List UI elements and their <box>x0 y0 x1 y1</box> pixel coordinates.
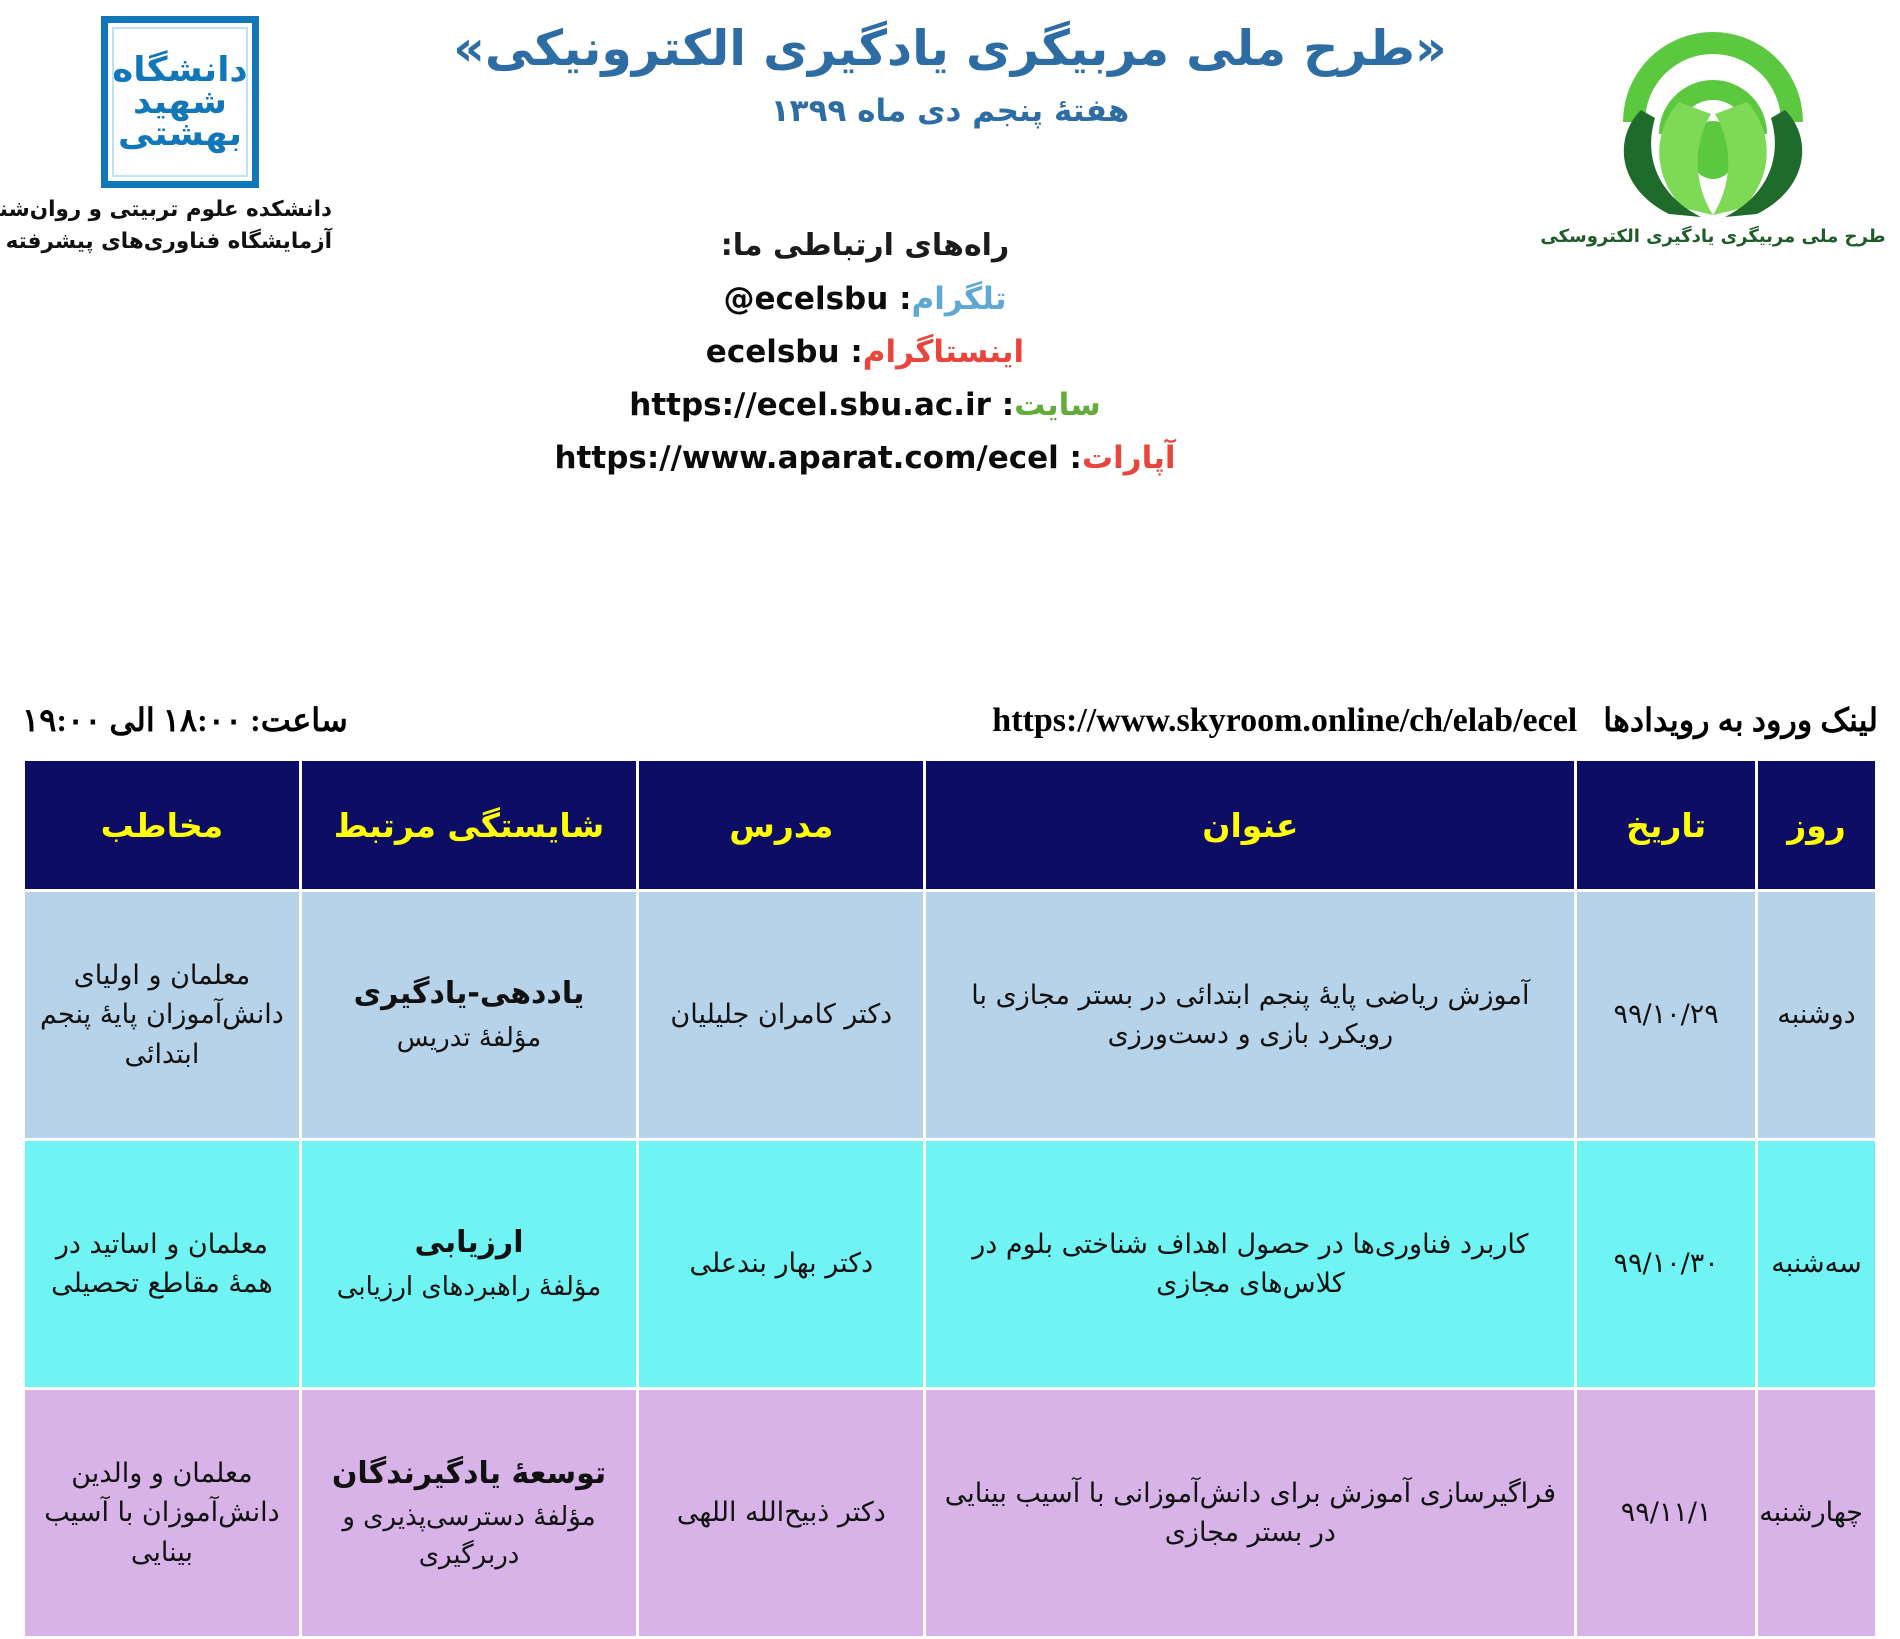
competency-sub: مؤلفهٔ دسترسی‌پذیری و دربرگیری <box>314 1499 624 1574</box>
competency-main: یاددهی-یادگیری <box>314 972 624 1016</box>
cell-title: فراگیرسازی آموزش برای دانش‌آموزانی با آس… <box>926 1390 1574 1636</box>
contact-block: راه‌های ارتباطی ما: تلگرام: @ecelsbu این… <box>0 228 1900 493</box>
cell-lecturer: دکتر کامران جلیلیان <box>639 892 923 1138</box>
column-header-competency[interactable]: شایستگی مرتبط <box>302 761 636 889</box>
competency-sub: مؤلفهٔ راهبردهای ارزیابی <box>314 1269 624 1307</box>
cell-title: کاربرد فناوری‌ها در حصول اهداف شناختی بل… <box>926 1141 1574 1387</box>
sbu-faculty-line1: دانشکده علوم تربیتی و روان‌شناسی <box>0 194 360 226</box>
event-link-label: لینک ورود به رویدادها <box>1603 701 1878 739</box>
contact-value-telegram[interactable]: @ecelsbu <box>724 281 889 317</box>
sbu-university-logo-icon: دانشگاه شهید بهشتی <box>101 16 259 188</box>
contact-label-telegram: تلگرام <box>912 281 1007 317</box>
contact-colon-aparat: : <box>1059 440 1082 476</box>
column-header-day[interactable]: روز <box>1758 761 1875 889</box>
table-header-row: روز تاریخ عنوان مدرس شایستگی مرتبط مخاطب <box>25 761 1875 889</box>
contact-value-aparat[interactable]: https://www.aparat.com/ecel <box>554 440 1058 476</box>
cell-lecturer: دکتر بهار بندعلی <box>639 1141 923 1387</box>
cell-day: چهارشنبه <box>1758 1390 1875 1636</box>
cell-lecturer: دکتر ذبیح‌الله اللهی <box>639 1390 923 1636</box>
schedule-table-wrap: روز تاریخ عنوان مدرس شایستگی مرتبط مخاطب… <box>22 758 1878 1639</box>
contact-row-telegram: تلگرام: @ecelsbu <box>0 281 1900 317</box>
event-link-url[interactable]: https://www.skyroom.online/ch/elab/ecel <box>992 702 1577 740</box>
contact-colon-instagram: : <box>840 334 863 370</box>
competency-main: توسعهٔ یادگیرندگان <box>314 1452 624 1496</box>
sbu-logo-calligraphy: دانشگاه شهید بهشتی <box>112 54 248 151</box>
column-header-title[interactable]: عنوان <box>926 761 1574 889</box>
cell-competency: یاددهی-یادگیری مؤلفهٔ تدریس <box>302 892 636 1138</box>
cell-audience: معلمان و والدین دانش‌آموزان با آسیب بینا… <box>25 1390 299 1636</box>
table-row[interactable]: سه‌شنبه ۹۹/۱۰/۳۰ کاربرد فناوری‌ها در حصو… <box>25 1141 1875 1387</box>
contact-heading: راه‌های ارتباطی ما: <box>0 228 1900 263</box>
column-header-lecturer[interactable]: مدرس <box>639 761 923 889</box>
ecel-logo-icon <box>1583 10 1843 220</box>
table-row[interactable]: چهارشنبه ۹۹/۱۱/۱ فراگیرسازی آموزش برای د… <box>25 1390 1875 1636</box>
cell-audience: معلمان و اولیای دانش‌آموزان پایهٔ پنجم ا… <box>25 892 299 1138</box>
competency-sub: مؤلفهٔ تدریس <box>314 1020 624 1058</box>
sbu-logo-block: دانشگاه شهید بهشتی دانشکده علوم تربیتی و… <box>0 8 360 259</box>
sbu-logo-frame: دانشگاه شهید بهشتی <box>112 27 248 177</box>
contact-label-instagram: اینستاگرام <box>863 334 1024 370</box>
cell-day: سه‌شنبه <box>1758 1141 1875 1387</box>
event-time: ساعت: ۱۸:۰۰ الی ۱۹:۰۰ <box>22 701 348 739</box>
contact-colon-telegram: : <box>888 281 911 317</box>
cell-date: ۹۹/۱۰/۲۹ <box>1577 892 1755 1138</box>
cell-competency: توسعهٔ یادگیرندگان مؤلفهٔ دسترسی‌پذیری و… <box>302 1390 636 1636</box>
ecel-logo-block: طرح ملی مربیگری یادگیری الکتروسکی <box>1538 10 1888 247</box>
cell-day: دوشنبه <box>1758 892 1875 1138</box>
contact-value-site[interactable]: https://ecel.sbu.ac.ir <box>629 387 991 423</box>
contact-row-instagram: اینستاگرام: ecelsbu <box>0 334 1900 370</box>
contact-label-site: سایت <box>1014 387 1101 423</box>
poster-root: دانشگاه شهید بهشتی دانشکده علوم تربیتی و… <box>0 0 1900 1620</box>
contact-row-site: سایت: https://ecel.sbu.ac.ir <box>0 387 1900 423</box>
column-header-date[interactable]: تاریخ <box>1577 761 1755 889</box>
competency-main: ارزیابی <box>314 1221 624 1265</box>
contact-row-aparat: آپارات: https://www.aparat.com/ecel <box>0 440 1900 476</box>
cell-competency: ارزیابی مؤلفهٔ راهبردهای ارزیابی <box>302 1141 636 1387</box>
cell-title: آموزش ریاضی پایهٔ پنجم ابتدائی در بستر م… <box>926 892 1574 1138</box>
table-row[interactable]: دوشنبه ۹۹/۱۰/۲۹ آموزش ریاضی پایهٔ پنجم ا… <box>25 892 1875 1138</box>
column-header-audience[interactable]: مخاطب <box>25 761 299 889</box>
event-link-group: لینک ورود به رویدادها https://www.skyroo… <box>992 701 1878 740</box>
cell-date: ۹۹/۱۱/۱ <box>1577 1390 1755 1636</box>
cell-audience: معلمان و اساتید در همهٔ مقاطع تحصیلی <box>25 1141 299 1387</box>
cell-date: ۹۹/۱۰/۳۰ <box>1577 1141 1755 1387</box>
contact-value-instagram[interactable]: ecelsbu <box>706 334 840 370</box>
contact-label-aparat: آپارات <box>1082 440 1176 476</box>
schedule-table: روز تاریخ عنوان مدرس شایستگی مرتبط مخاطب… <box>22 758 1878 1639</box>
event-info-bar: لینک ورود به رویدادها https://www.skyroo… <box>0 690 1900 750</box>
contact-colon-site: : <box>991 387 1014 423</box>
